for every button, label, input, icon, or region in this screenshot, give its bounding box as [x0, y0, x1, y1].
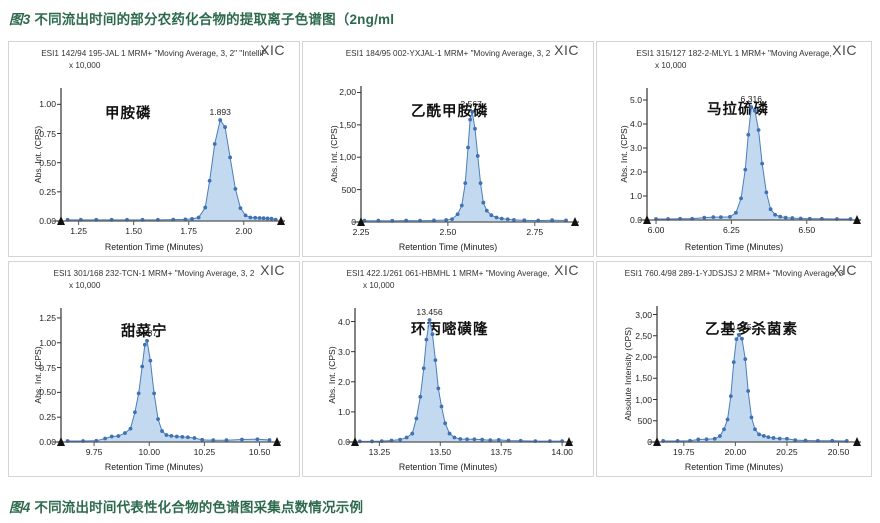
plot-area-6	[643, 292, 869, 456]
data-point	[186, 435, 190, 439]
chromatogram-panel-5: ESI1 422.1/261 061-HBMHL 1 MRM+ "Moving …	[302, 261, 594, 477]
data-point	[476, 154, 480, 158]
data-point	[480, 438, 484, 442]
data-point	[726, 418, 730, 422]
data-point	[713, 437, 717, 441]
data-point	[425, 338, 429, 342]
data-point	[418, 395, 422, 399]
data-point	[213, 142, 217, 146]
data-point	[739, 197, 743, 201]
data-point	[722, 427, 726, 431]
data-point	[190, 217, 194, 221]
data-point	[436, 387, 440, 391]
data-point	[268, 438, 272, 442]
data-point	[735, 337, 739, 341]
figure-3-caption: 图3 不同流出时间的部分农药化合物的提取离子色谱图（2ng/ml	[9, 8, 394, 28]
data-point	[140, 365, 144, 369]
data-point	[240, 438, 244, 442]
data-point	[764, 191, 768, 195]
data-point	[479, 181, 483, 185]
x-axis-label-1: Retention Time (Minutes)	[9, 242, 299, 252]
data-point	[415, 417, 419, 421]
x-axis-label-6: Retention Time (Minutes)	[597, 462, 871, 472]
data-point	[705, 437, 709, 441]
data-point	[463, 181, 467, 185]
chromatogram-panel-3: ESI1 315/127 182-2-MLYL 1 MRM+ "Moving A…	[596, 41, 872, 257]
xic-label-6: XIC	[832, 262, 857, 278]
axis-multiplier-5: x 10,000	[363, 281, 394, 290]
data-point	[133, 410, 137, 414]
data-point	[398, 438, 402, 442]
data-point	[749, 105, 753, 109]
data-point	[753, 109, 757, 113]
peak-trace	[364, 112, 566, 222]
data-point	[169, 434, 173, 438]
data-point	[497, 438, 501, 442]
data-point	[440, 405, 444, 409]
chromatogram-panel-1: ESI1 142/94 195-JAL 1 MRM+ "Moving Avera…	[8, 41, 300, 257]
data-point	[270, 217, 274, 221]
panel-header-1: ESI1 142/94 195-JAL 1 MRM+ "Moving Avera…	[9, 49, 299, 58]
data-point	[218, 118, 222, 122]
data-point	[223, 125, 227, 129]
data-point	[762, 434, 766, 438]
plot-area-2	[347, 72, 587, 236]
data-point	[239, 206, 243, 210]
data-point	[696, 438, 700, 442]
data-point	[481, 201, 485, 205]
data-point	[262, 216, 266, 220]
panel-header-6: ESI1 760.4/98 289-1-YJDSJSJ 2 MRM+ "Movi…	[597, 269, 871, 278]
data-point	[248, 216, 252, 220]
data-point	[485, 209, 489, 213]
y-axis-label-5: Abs. Int. (CPS)	[327, 308, 337, 442]
data-point	[156, 417, 160, 421]
data-point	[465, 437, 469, 441]
data-point	[255, 437, 259, 441]
data-point	[746, 389, 750, 393]
data-point	[772, 436, 776, 440]
data-point	[203, 206, 207, 210]
data-point	[110, 435, 114, 439]
data-point	[428, 318, 432, 322]
panel-header-2: ESI1 184/95 002-YXJAL-1 MRM+ "Moving Ave…	[303, 49, 593, 58]
peak-trace	[656, 107, 850, 220]
data-point	[180, 435, 184, 439]
data-point	[743, 168, 747, 172]
panel-header-5: ESI1 422.1/261 061-HBMHL 1 MRM+ "Moving …	[303, 269, 593, 278]
data-point	[468, 118, 472, 122]
data-point	[512, 218, 516, 222]
plot-area-5	[341, 294, 581, 456]
data-point	[160, 429, 164, 433]
data-point	[266, 217, 270, 221]
xic-label-5: XIC	[554, 262, 579, 278]
data-point	[244, 214, 248, 218]
data-point	[506, 217, 510, 221]
data-point	[732, 360, 736, 364]
data-point	[760, 162, 764, 166]
data-point	[473, 437, 477, 441]
data-point	[228, 156, 232, 160]
data-point	[450, 217, 454, 221]
axis-multiplier-1: x 10,000	[69, 61, 100, 70]
figure-4-number: 图4	[9, 500, 30, 515]
data-point	[489, 213, 493, 217]
data-point	[197, 216, 201, 220]
data-point	[718, 434, 722, 438]
data-point	[193, 436, 197, 440]
data-point	[453, 436, 457, 440]
panel-header-4: ESI1 301/168 232-TCN-1 MRM+ "Moving Aver…	[9, 269, 299, 278]
data-point	[773, 213, 777, 217]
axis-multiplier-3: x 10,000	[655, 61, 686, 70]
data-point	[165, 433, 169, 437]
data-point	[769, 207, 773, 211]
data-point	[234, 187, 238, 191]
data-point	[456, 212, 460, 216]
data-point	[200, 438, 204, 442]
x-axis-label-2: Retention Time (Minutes)	[303, 242, 593, 252]
data-point	[208, 179, 212, 183]
data-point	[458, 437, 462, 441]
data-point	[175, 435, 179, 439]
data-point	[137, 391, 141, 395]
peak-trace	[663, 335, 847, 442]
panel-header-3: ESI1 315/127 182-2-MLYL 1 MRM+ "Moving A…	[597, 49, 871, 58]
data-point	[702, 216, 706, 220]
data-point	[728, 215, 732, 219]
axis-multiplier-4: x 10,000	[69, 281, 100, 290]
peak-trace	[68, 341, 270, 442]
plot-area-4	[47, 294, 289, 456]
data-point	[448, 432, 452, 436]
data-point	[740, 337, 744, 341]
x-axis-label-3: Retention Time (Minutes)	[597, 242, 871, 252]
xic-label-1: XIC	[260, 42, 285, 58]
data-point	[116, 434, 120, 438]
data-point	[729, 394, 733, 398]
data-point	[734, 211, 738, 215]
data-point	[444, 218, 448, 222]
data-point	[143, 343, 147, 347]
figure-3-text: 不同流出时间的部分农药化合物的提取离子色谱图（2ng/ml	[30, 12, 394, 27]
xic-label-4: XIC	[260, 262, 285, 278]
data-point	[784, 216, 788, 220]
data-point	[152, 391, 156, 395]
data-point	[785, 437, 789, 441]
data-point	[766, 435, 770, 439]
data-point	[495, 216, 499, 220]
data-point	[405, 436, 409, 440]
chromatogram-panel-6: ESI1 760.4/98 289-1-YJDSJSJ 2 MRM+ "Movi…	[596, 261, 872, 477]
x-axis-label-5: Retention Time (Minutes)	[303, 462, 593, 472]
data-point	[500, 217, 504, 221]
data-point	[711, 215, 715, 219]
data-point	[757, 432, 761, 436]
data-point	[443, 421, 447, 425]
peak-trace	[68, 120, 276, 221]
x-axis-label-4: Retention Time (Minutes)	[9, 462, 299, 472]
data-point	[778, 215, 782, 219]
data-point	[746, 133, 750, 137]
plot-area-1	[47, 74, 293, 235]
data-point	[103, 437, 107, 441]
data-point	[145, 339, 149, 343]
xic-label-3: XIC	[832, 42, 857, 58]
data-point	[129, 427, 133, 431]
chromatogram-panel-2: ESI1 184/95 002-YXJAL-1 MRM+ "Moving Ave…	[302, 41, 594, 257]
data-point	[753, 427, 757, 431]
data-point	[466, 146, 470, 150]
data-point	[737, 333, 741, 337]
data-point	[719, 215, 723, 219]
data-point	[148, 359, 152, 363]
data-point	[123, 431, 127, 435]
plot-area-3	[633, 74, 869, 234]
figure-3-number: 图3	[9, 12, 30, 27]
data-point	[431, 332, 435, 336]
data-point	[750, 415, 754, 419]
figure-4-text: 不同流出时间代表性化合物的色谱图采集点数情况示例	[30, 500, 363, 515]
data-point	[473, 127, 477, 131]
data-point	[253, 216, 257, 220]
xic-label-2: XIC	[554, 42, 579, 58]
data-point	[778, 437, 782, 441]
data-point	[470, 110, 474, 114]
figure-4-caption: 图4 不同流出时间代表性化合物的色谱图采集点数情况示例	[9, 496, 363, 516]
peak-trace	[360, 320, 562, 442]
chromatogram-panel-grid: ESI1 142/94 195-JAL 1 MRM+ "Moving Avera…	[8, 41, 872, 489]
data-point	[743, 357, 747, 361]
data-point	[422, 366, 426, 370]
data-point	[258, 216, 262, 220]
data-point	[410, 432, 414, 436]
data-point	[434, 358, 438, 362]
chromatogram-panel-4: ESI1 301/168 232-TCN-1 MRM+ "Moving Aver…	[8, 261, 300, 477]
data-point	[757, 128, 761, 132]
data-point	[460, 204, 464, 208]
